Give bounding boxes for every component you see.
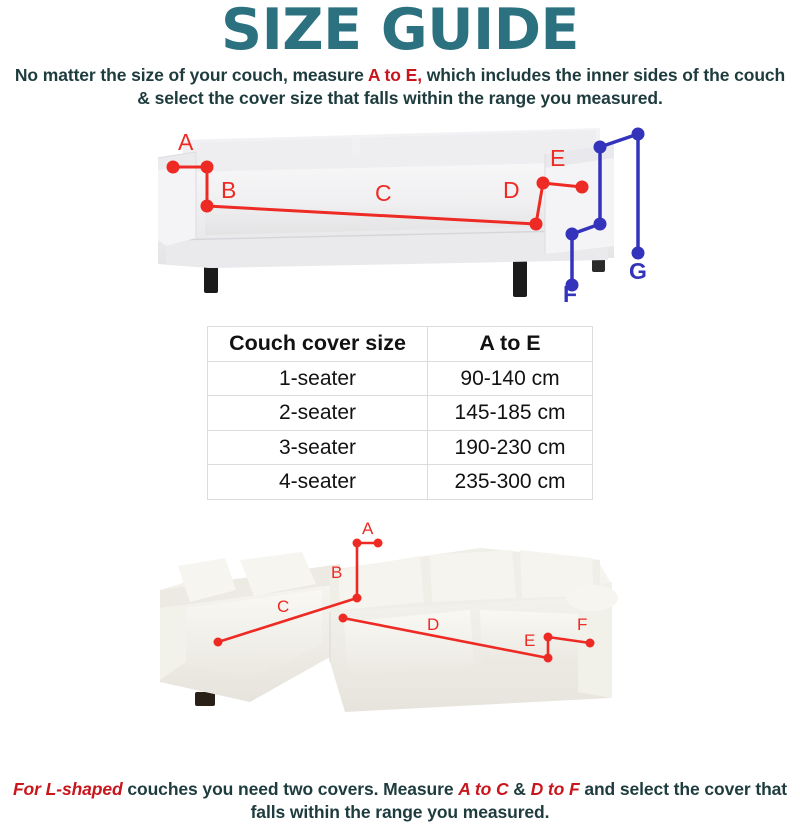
sectional-back-cushion-1 [338,556,424,610]
table-row: 2-seater 145-185 cm [208,396,593,431]
dot-b [201,200,214,213]
dot-e-corner [537,177,550,190]
table-row: 3-seater 190-230 cm [208,430,593,465]
header-couch-cover-size: Couch cover size [208,327,428,362]
dot-blue-mid [594,218,607,231]
dot-c [214,638,223,647]
dot-d [530,218,543,231]
sofa-illustration [158,128,614,297]
label-a: A [362,519,374,538]
dot-e-outer [576,181,589,194]
dot-f-corner [544,633,553,642]
dot-a-right [374,539,383,548]
subtitle-highlight: A to E, [368,65,422,85]
dot-e [544,654,553,663]
dot-blue-jog [566,228,579,241]
cell-range-2: 145-185 cm [428,396,593,431]
label-d: D [503,177,520,203]
dot-blue-top-right [632,128,645,141]
dot-blue-top-left [594,141,607,154]
footnote-part1: couches you need two covers. Measure [123,779,459,799]
sectional-back-cushion-2 [430,550,516,602]
label-b: B [331,563,342,582]
header-a-to-e: A to E [428,327,593,362]
size-table-container: Couch cover size A to E 1-seater 90-140 … [0,326,800,500]
label-b: B [221,177,236,203]
sectional-illustration [160,548,618,712]
footnote-highlight-d-to-f: D to F [531,779,580,799]
label-f: F [563,281,577,307]
subtitle-text: No matter the size of your couch, measur… [14,64,786,110]
sectional-arm-right-roll [566,585,618,611]
page-title: SIZE GUIDE [0,0,800,58]
label-c: C [375,180,392,206]
cell-range-3: 190-230 cm [428,430,593,465]
label-c: C [277,597,289,616]
footnote-highlight-a-to-c: A to C [458,779,508,799]
subtitle-part1: No matter the size of your couch, measur… [15,65,368,85]
lshape-couch-diagram: A B C D E F [0,512,800,742]
label-a: A [178,129,194,155]
label-e: E [550,145,565,171]
label-d: D [427,615,439,634]
cell-range-1: 90-140 cm [428,361,593,396]
table-row: 4-seater 235-300 cm [208,465,593,500]
label-g: G [629,258,647,284]
cell-size-2: 2-seater [208,396,428,431]
sectional-leg-chaise-front [195,692,215,706]
dot-a-corner [201,161,214,174]
dot-f-outer [586,639,595,648]
cell-size-3: 3-seater [208,430,428,465]
straight-couch-diagram: A B C D E F G [0,118,800,308]
sofa-leg-right [513,260,527,297]
cell-range-4: 235-300 cm [428,465,593,500]
dot-a-outer [167,161,180,174]
label-f: F [577,615,587,634]
size-table: Couch cover size A to E 1-seater 90-140 … [207,326,593,500]
dot-a-left [353,539,362,548]
dot-d [339,614,348,623]
label-e: E [524,631,535,650]
cell-size-4: 4-seater [208,465,428,500]
footnote-text: For L-shaped couches you need two covers… [0,778,800,824]
table-row: 1-seater 90-140 cm [208,361,593,396]
footnote-part2: & [509,779,531,799]
cell-size-1: 1-seater [208,361,428,396]
dot-b-corner [353,594,362,603]
footnote-highlight-lshaped: For L-shaped [13,779,123,799]
table-header-row: Couch cover size A to E [208,327,593,362]
